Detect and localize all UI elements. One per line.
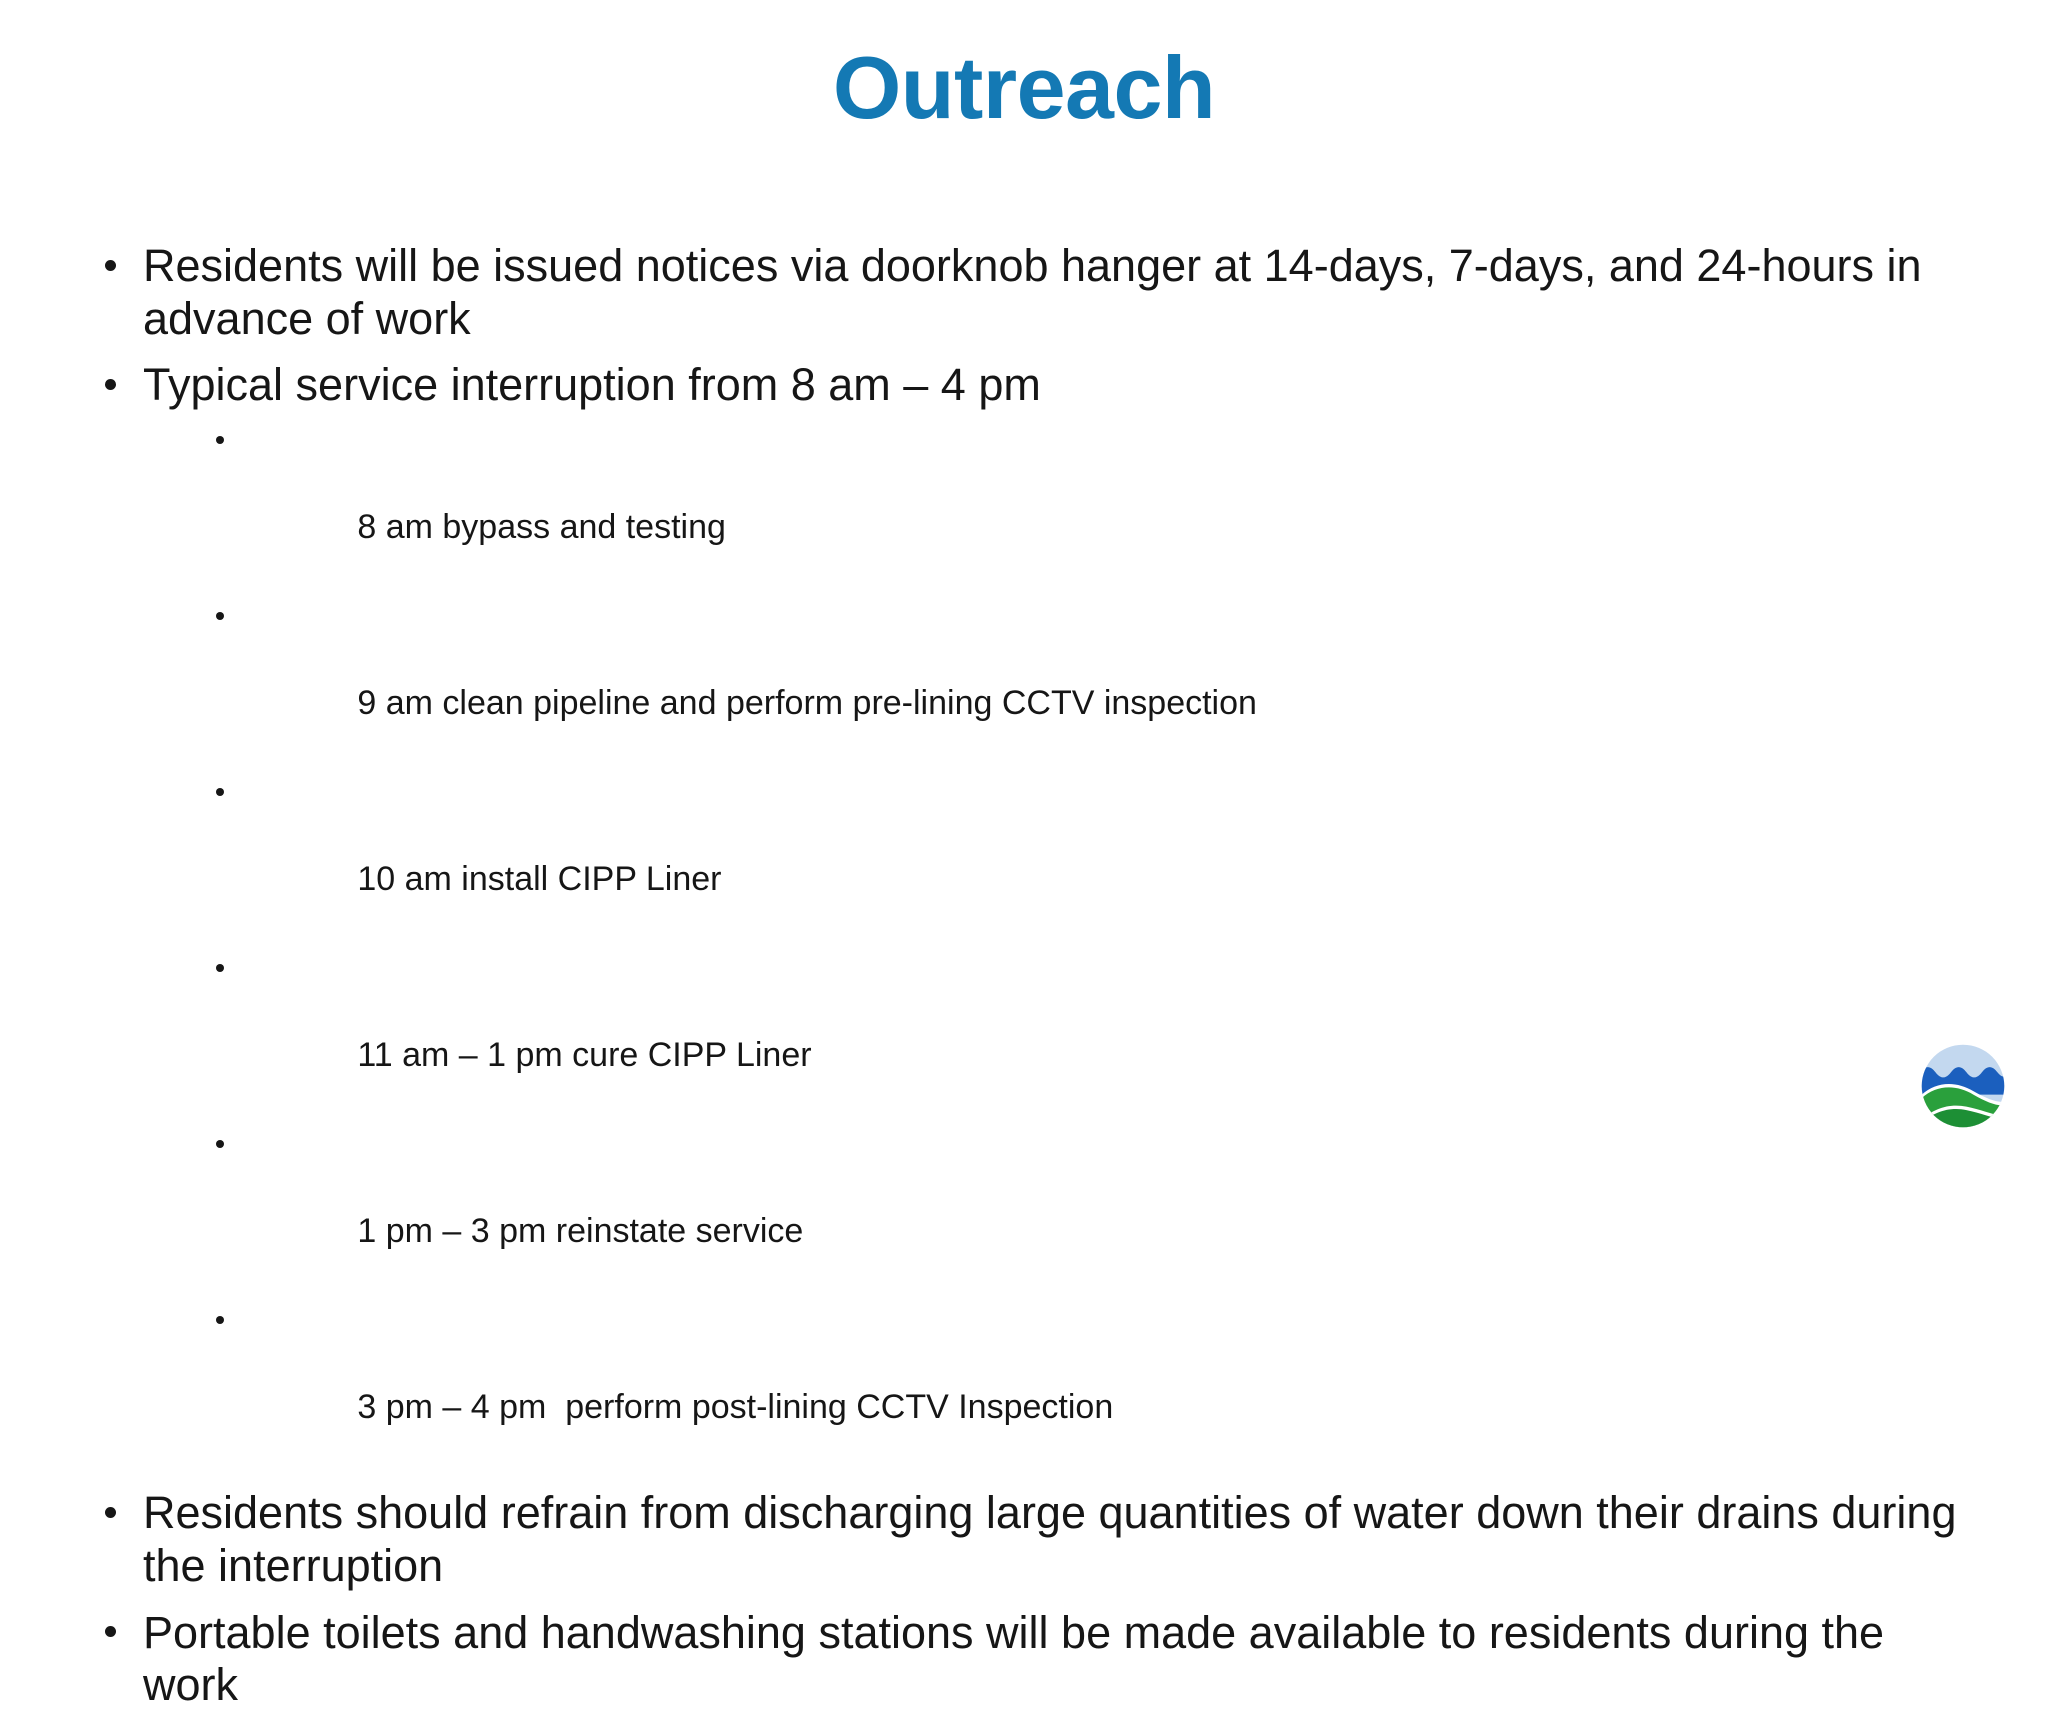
sub-bullet-text: 10 am install CIPP Liner [357, 860, 721, 898]
bullet-text: Portable toilets and handwashing station… [143, 1607, 1884, 1711]
bullet-item: Residents will be issued notices via doo… [100, 240, 1970, 345]
bullet-dot-icon [105, 260, 116, 271]
bullet-item: Typical service interruption from 8 am –… [100, 359, 1970, 1473]
bullet-dot-icon [216, 1140, 224, 1148]
presentation-slide: Outreach Residents will be issued notice… [0, 0, 2048, 1153]
sub-bullet-item: 1 pm – 3 pm reinstate service [213, 1123, 1970, 1297]
sub-bullet-text: 3 pm – 4 pm perform post-lining CCTV Ins… [357, 1388, 1113, 1426]
sub-bullet-item: 11 am – 1 pm cure CIPP Liner [213, 947, 1970, 1121]
bullet-dot-icon [105, 379, 116, 390]
bullet-dot-icon [216, 436, 224, 444]
sub-bullet-text: 11 am – 1 pm cure CIPP Liner [357, 1036, 811, 1074]
bullet-item: Portable toilets and handwashing station… [100, 1607, 1970, 1712]
slide-body: Residents will be issued notices via doo… [100, 240, 1970, 1726]
bullet-dot-icon [216, 964, 224, 972]
sub-bullet-text: 8 am bypass and testing [357, 508, 726, 546]
bullet-dot-icon [216, 612, 224, 620]
bullet-list: Residents will be issued notices via doo… [100, 240, 1970, 1712]
sub-bullet-text: 1 pm – 3 pm reinstate service [357, 1212, 803, 1250]
bullet-dot-icon [105, 1507, 116, 1518]
bullet-text: Residents will be issued notices via doo… [143, 240, 1922, 344]
bullet-item: Residents should refrain from dischargin… [100, 1487, 1970, 1592]
slide-title: Outreach [0, 42, 2048, 134]
bullet-dot-icon [105, 1626, 116, 1637]
sub-bullet-item: 9 am clean pipeline and perform pre-lini… [213, 595, 1970, 769]
bullet-text: Typical service interruption from 8 am –… [143, 359, 1041, 410]
sub-bullet-item: 10 am install CIPP Liner [213, 771, 1970, 945]
bullet-dot-icon [216, 1316, 224, 1324]
sub-bullet-item: 8 am bypass and testing [213, 419, 1970, 593]
sub-bullet-text: 9 am clean pipeline and perform pre-lini… [357, 684, 1257, 722]
bullet-text: Residents should refrain from dischargin… [143, 1487, 1956, 1591]
water-and-hills-circle-logo-icon [1920, 1043, 2006, 1129]
bullet-dot-icon [216, 788, 224, 796]
sub-bullet-item: 3 pm – 4 pm perform post-lining CCTV Ins… [213, 1299, 1970, 1473]
sub-bullet-list: 8 am bypass and testing 9 am clean pipel… [143, 419, 1970, 1473]
